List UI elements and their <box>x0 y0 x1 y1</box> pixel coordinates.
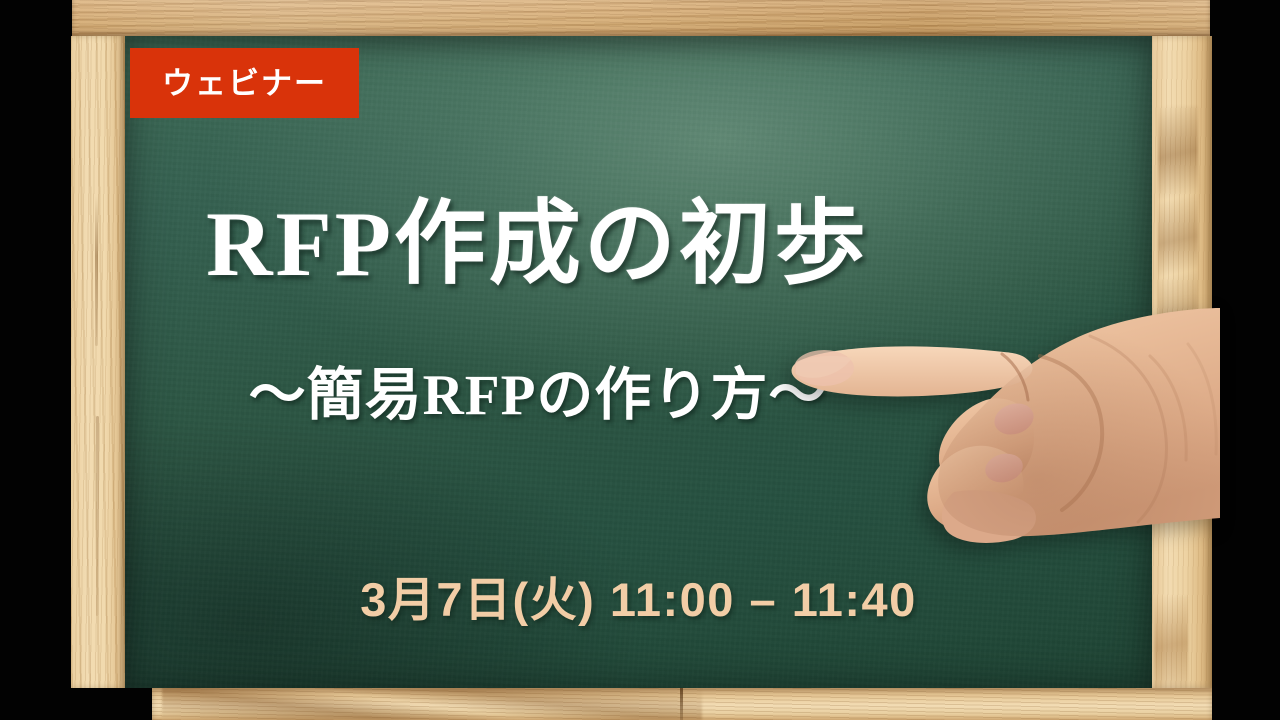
wood-frame-bottom <box>152 688 1212 720</box>
wood-grain-line <box>96 416 99 616</box>
webinar-badge: ウェビナー <box>130 48 359 118</box>
webinar-badge-label: ウェビナー <box>162 68 327 99</box>
wood-grain-swirl <box>162 688 702 720</box>
wood-grain-line <box>95 196 98 346</box>
slide-canvas: ウェビナー RFP作成の初歩 〜簡易RFPの作り方〜 3月7日(火) 11:00… <box>0 0 1280 720</box>
wood-frame-top <box>72 0 1210 36</box>
wood-frame-seam <box>680 688 683 720</box>
pointing-hand-icon <box>790 296 1220 546</box>
wood-frame-left <box>71 36 125 688</box>
